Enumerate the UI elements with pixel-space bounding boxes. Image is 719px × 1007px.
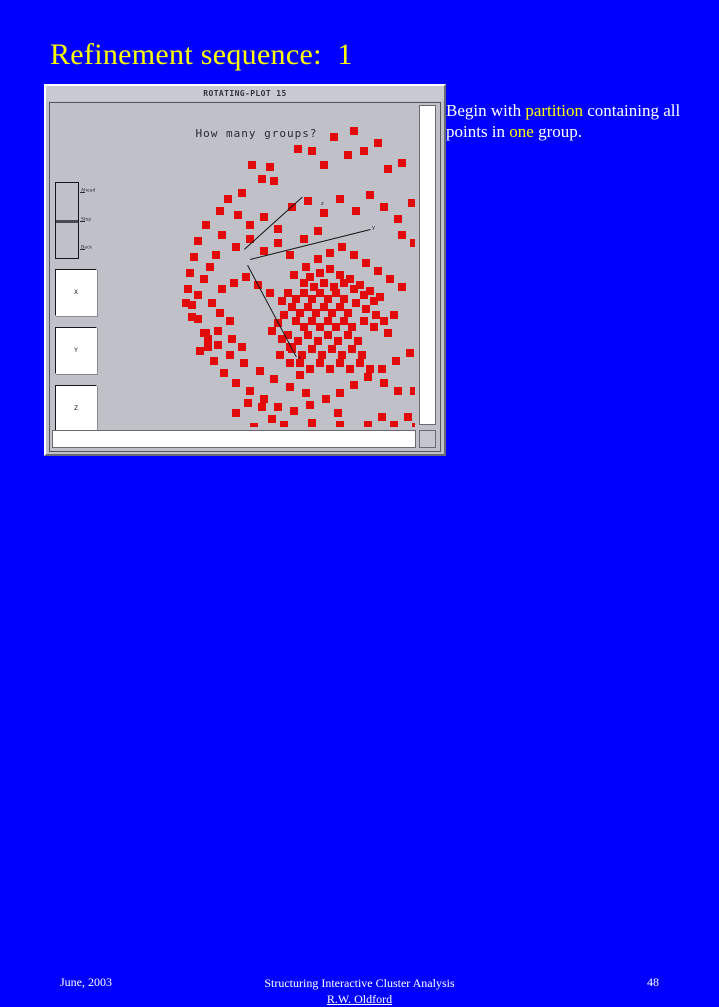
page-title: Refinement sequence: 1 — [50, 38, 353, 72]
scatter-point[interactable] — [320, 303, 328, 311]
window-body: Ahead Stop Back X Y Z How many groups? — [49, 102, 441, 452]
scatter-point[interactable] — [216, 309, 224, 317]
scatter-point[interactable] — [228, 335, 236, 343]
scatter-point[interactable] — [234, 211, 242, 219]
scatter-point[interactable] — [404, 413, 412, 421]
scatter-point[interactable] — [238, 343, 246, 351]
scatter-point[interactable] — [384, 329, 392, 337]
scatter-point[interactable] — [332, 323, 340, 331]
scatter-point[interactable] — [348, 345, 356, 353]
scatter-point[interactable] — [308, 317, 316, 325]
scatter-point[interactable] — [380, 379, 388, 387]
scatter-point[interactable] — [364, 373, 372, 381]
scatter-point[interactable] — [316, 359, 324, 367]
scatter-point[interactable] — [218, 231, 226, 239]
scatter-point[interactable] — [200, 275, 208, 283]
scatter-point[interactable] — [204, 335, 212, 343]
scatter-point[interactable] — [194, 291, 202, 299]
scatter-point[interactable] — [266, 289, 274, 297]
scatter-point[interactable] — [344, 309, 352, 317]
scatter-point[interactable] — [398, 159, 406, 167]
control-strip: Ahead Stop Back X Y Z — [50, 103, 98, 451]
scatter-point[interactable] — [320, 279, 328, 287]
scatter-point[interactable] — [220, 369, 228, 377]
scatter-point[interactable] — [208, 299, 216, 307]
scatter-point[interactable] — [186, 269, 194, 277]
scatter-point[interactable] — [296, 309, 304, 317]
scatter-point[interactable] — [296, 371, 304, 379]
scatter-point[interactable] — [390, 421, 398, 427]
scatter-point[interactable] — [300, 323, 308, 331]
scatter-point[interactable] — [412, 423, 415, 427]
scatter-point[interactable] — [364, 421, 372, 427]
scatter-point[interactable] — [284, 289, 292, 297]
scatter-point[interactable] — [336, 389, 344, 397]
rotation-axis-tip-z: z — [321, 201, 324, 207]
scatter-point[interactable] — [276, 351, 284, 359]
scatter-point[interactable] — [324, 317, 332, 325]
scatter-point[interactable] — [318, 351, 326, 359]
slide-footer: June, 2003 Structuring Interactive Clust… — [0, 481, 719, 539]
scatter-point[interactable] — [356, 359, 364, 367]
scatter-point[interactable] — [336, 359, 344, 367]
scatter-point[interactable] — [304, 331, 312, 339]
scatter-point[interactable] — [366, 191, 374, 199]
scatter-point[interactable] — [248, 161, 256, 169]
scatter-point[interactable] — [290, 407, 298, 415]
scatter-point[interactable] — [360, 147, 368, 155]
scatter-point[interactable] — [270, 177, 278, 185]
scatter-point[interactable] — [362, 305, 370, 313]
scatter-point[interactable] — [286, 251, 294, 259]
scatter-point[interactable] — [306, 365, 314, 373]
scatter-point[interactable] — [188, 313, 196, 321]
scatter-point[interactable] — [290, 271, 298, 279]
scatter-point[interactable] — [366, 365, 374, 373]
slider-label-stop: Stop — [81, 218, 91, 223]
scatter-point[interactable] — [286, 359, 294, 367]
scatter-point[interactable] — [312, 309, 320, 317]
scatter-point[interactable] — [308, 295, 316, 303]
scatter-point[interactable] — [292, 295, 300, 303]
rotation-axis-tip-x: x — [298, 355, 301, 361]
scatter-point[interactable] — [266, 163, 274, 171]
footer-author: R.W. Oldford — [0, 991, 719, 1007]
scatter-point[interactable] — [268, 327, 276, 335]
scatter-point[interactable] — [330, 283, 338, 291]
scatter-point[interactable] — [350, 251, 358, 259]
scatter-point[interactable] — [326, 365, 334, 373]
scatter-point[interactable] — [386, 275, 394, 283]
scatter-point[interactable] — [356, 281, 364, 289]
scatter-point[interactable] — [320, 161, 328, 169]
scatter-point[interactable] — [330, 133, 338, 141]
scatter-point[interactable] — [306, 401, 314, 409]
scatter-point[interactable] — [352, 207, 360, 215]
scatter-point[interactable] — [336, 271, 344, 279]
horizontal-scrollbar[interactable] — [52, 430, 416, 448]
scatter-point[interactable] — [288, 303, 296, 311]
scatter-point[interactable] — [260, 213, 268, 221]
scatter-point[interactable] — [354, 337, 362, 345]
scatter-point[interactable] — [394, 215, 402, 223]
scatter-point[interactable] — [338, 351, 346, 359]
scatter-point[interactable] — [238, 189, 246, 197]
scatter-point[interactable] — [314, 255, 322, 263]
scatter-point[interactable] — [390, 311, 398, 319]
scatter-point[interactable] — [240, 359, 248, 367]
window-title-text: ROTATING-PLOT 15 — [203, 89, 286, 98]
scatter-point[interactable] — [304, 303, 312, 311]
scatter-point[interactable] — [410, 387, 415, 395]
scatter-point[interactable] — [306, 273, 314, 281]
scatter-point[interactable] — [304, 197, 312, 205]
scatter-point[interactable] — [316, 269, 324, 277]
footer-title: Structuring Interactive Cluster Analysis — [0, 975, 719, 991]
scatter-point[interactable] — [250, 423, 258, 427]
scatter-point[interactable] — [350, 381, 358, 389]
scatter-point[interactable] — [334, 409, 342, 417]
scatter-point[interactable] — [408, 199, 415, 207]
scatter-point[interactable] — [218, 285, 226, 293]
scrollbar-corner — [419, 430, 436, 448]
scatter-point[interactable] — [232, 409, 240, 417]
scatter-point[interactable] — [226, 351, 234, 359]
scatter-point[interactable] — [328, 345, 336, 353]
scatter-point[interactable] — [278, 297, 286, 305]
scatter-point[interactable] — [302, 389, 310, 397]
scatter-point[interactable] — [336, 303, 344, 311]
scatter-point[interactable] — [322, 395, 330, 403]
scatter-point[interactable] — [336, 195, 344, 203]
scatter-point[interactable] — [316, 323, 324, 331]
scatter-point[interactable] — [398, 283, 406, 291]
scatter-point[interactable] — [308, 147, 316, 155]
rotation-axis-tip-y: y — [372, 225, 375, 231]
scatter-point[interactable] — [226, 317, 234, 325]
scatter-point[interactable] — [370, 323, 378, 331]
scatter-point[interactable] — [280, 311, 288, 319]
scatter-point[interactable] — [384, 165, 392, 173]
axis-button-y-label: Y — [74, 347, 78, 354]
plot-title: How many groups? — [98, 127, 415, 140]
scatter-point[interactable] — [378, 365, 386, 373]
scatter-point[interactable] — [348, 323, 356, 331]
axis-button-y[interactable]: Y — [55, 327, 97, 374]
scatter-point[interactable] — [204, 343, 212, 351]
scatter-point[interactable] — [310, 283, 318, 291]
scatter-point[interactable] — [214, 341, 222, 349]
scatter-point[interactable] — [328, 309, 336, 317]
scatter-point[interactable] — [344, 331, 352, 339]
axis-button-x[interactable]: X — [55, 269, 97, 316]
scatter-point[interactable] — [216, 207, 224, 215]
scatter-point[interactable] — [294, 145, 302, 153]
axis-button-z[interactable]: Z — [55, 385, 97, 432]
scatter-point[interactable] — [212, 251, 220, 259]
scatter-point[interactable] — [308, 419, 316, 427]
scatter-point[interactable] — [256, 367, 264, 375]
scatter-point[interactable] — [258, 403, 266, 411]
scatter-point[interactable] — [280, 421, 288, 427]
scatter-plot-canvas[interactable]: How many groups? z y x — [98, 103, 415, 427]
scatter-point[interactable] — [194, 237, 202, 245]
vertical-scrollbar[interactable] — [419, 105, 436, 425]
scatter-point[interactable] — [314, 227, 322, 235]
scatter-point[interactable] — [338, 243, 346, 251]
scatter-point[interactable] — [294, 337, 302, 345]
scatter-point[interactable] — [230, 279, 238, 287]
scatter-point[interactable] — [374, 267, 382, 275]
scatter-point[interactable] — [214, 327, 222, 335]
scatter-point[interactable] — [210, 357, 218, 365]
scatter-point[interactable] — [406, 349, 414, 357]
scatter-point[interactable] — [308, 345, 316, 353]
scatter-point[interactable] — [300, 289, 308, 297]
body-line2-highlight: one — [509, 122, 534, 141]
slider-label-ahead: Ahead — [81, 189, 95, 194]
scatter-point[interactable] — [244, 399, 252, 407]
scatter-point[interactable] — [344, 151, 352, 159]
scatter-point[interactable] — [380, 203, 388, 211]
footer-page-number: 48 — [647, 975, 659, 990]
scatter-point[interactable] — [268, 415, 276, 423]
scatter-point[interactable] — [340, 317, 348, 325]
scatter-point[interactable] — [374, 139, 382, 147]
scatter-point[interactable] — [398, 231, 406, 239]
axis-button-x-label: X — [74, 289, 78, 296]
scatter-point[interactable] — [302, 263, 310, 271]
footer-center: Structuring Interactive Cluster Analysis… — [0, 975, 719, 1007]
scatter-point[interactable] — [340, 295, 348, 303]
scatter-point[interactable] — [378, 413, 386, 421]
scatter-point[interactable] — [274, 225, 282, 233]
scatter-point[interactable] — [314, 337, 322, 345]
scatter-point[interactable] — [326, 249, 334, 257]
scatter-point[interactable] — [292, 317, 300, 325]
scatter-point[interactable] — [190, 253, 198, 261]
scatter-point[interactable] — [300, 235, 308, 243]
scatter-point[interactable] — [394, 387, 402, 395]
body-line1-pre: Begin with — [446, 101, 525, 120]
scatter-point[interactable] — [380, 317, 388, 325]
scatter-point[interactable] — [352, 299, 360, 307]
window-titlebar[interactable]: ROTATING-PLOT 15 — [46, 86, 444, 101]
body-line1-highlight: partition — [525, 101, 583, 120]
scatter-point[interactable] — [274, 403, 282, 411]
scatter-point[interactable] — [202, 221, 210, 229]
scatter-point[interactable] — [350, 127, 358, 135]
scatter-point[interactable] — [270, 375, 278, 383]
scatter-point[interactable] — [346, 275, 354, 283]
body-text: Begin with partition containing all poin… — [446, 100, 708, 142]
scatter-point[interactable] — [258, 175, 266, 183]
scatter-point[interactable] — [320, 209, 328, 217]
axis-button-z-label: Z — [74, 405, 78, 412]
scatter-point[interactable] — [232, 379, 240, 387]
scatter-point[interactable] — [410, 239, 415, 247]
scatter-point[interactable] — [336, 421, 344, 427]
scatter-point[interactable] — [232, 243, 240, 251]
scatter-point[interactable] — [196, 347, 204, 355]
scatter-point[interactable] — [326, 265, 334, 273]
slider-handle[interactable] — [56, 220, 78, 223]
rotation-speed-slider[interactable] — [55, 182, 79, 259]
scatter-point[interactable] — [260, 395, 268, 403]
scatter-point[interactable] — [246, 221, 254, 229]
scatter-point[interactable] — [246, 387, 254, 395]
scatter-point[interactable] — [372, 311, 380, 319]
scatter-point[interactable] — [182, 299, 190, 307]
scatter-point[interactable] — [376, 293, 384, 301]
scatter-point[interactable] — [184, 285, 192, 293]
slider-label-back: Back — [81, 246, 92, 251]
scatter-point[interactable] — [334, 337, 342, 345]
scatter-point[interactable] — [392, 357, 400, 365]
scatter-point[interactable] — [274, 239, 282, 247]
scatter-point[interactable] — [224, 195, 232, 203]
scatter-point[interactable] — [358, 351, 366, 359]
scatter-point[interactable] — [366, 287, 374, 295]
body-line3: group. — [538, 122, 582, 141]
scatter-point[interactable] — [360, 317, 368, 325]
scatter-point[interactable] — [324, 331, 332, 339]
scatter-point[interactable] — [206, 263, 214, 271]
scatter-point[interactable] — [242, 273, 250, 281]
scatter-point[interactable] — [346, 365, 354, 373]
rotating-plot-window[interactable]: ROTATING-PLOT 15 Ahead Stop Back X Y — [44, 84, 446, 456]
scatter-point[interactable] — [286, 383, 294, 391]
scatter-point[interactable] — [362, 259, 370, 267]
scatter-point[interactable] — [324, 295, 332, 303]
slide-root: Refinement sequence: 1 ROTATING-PLOT 15 … — [0, 0, 719, 539]
